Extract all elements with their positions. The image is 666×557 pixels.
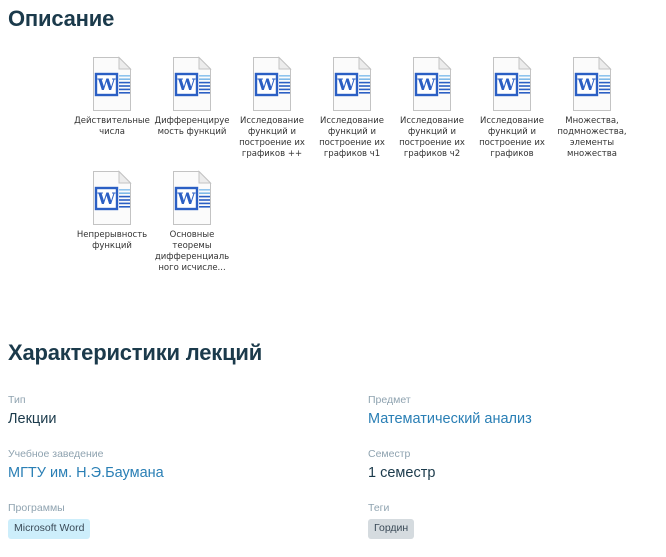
attachment-item[interactable]: W Исследование функций и построение их г… <box>312 56 392 160</box>
svg-text:W: W <box>577 75 597 94</box>
page-title: Описание <box>8 6 114 32</box>
word-document-icon: W <box>90 170 134 226</box>
attachment-item[interactable]: W Дифференцируемость функций <box>152 56 232 138</box>
word-document-icon: W <box>170 170 214 226</box>
attachment-label: Непрерывность функций <box>74 230 150 252</box>
tag-badge[interactable]: Гордин <box>368 519 414 539</box>
word-document-icon: W <box>490 56 534 112</box>
spec-label: Программы <box>8 501 368 515</box>
attachment-item[interactable]: W Основные теоремы дифференциального исч… <box>152 170 232 274</box>
attachment-label: Исследование функций и построение их гра… <box>474 116 550 160</box>
attachment-label: Действительные числа <box>74 116 150 138</box>
word-document-icon: W <box>330 56 374 112</box>
svg-text:W: W <box>417 75 437 94</box>
svg-text:W: W <box>337 75 357 94</box>
attachment-item[interactable]: W Множества, подмножества, элементы множ… <box>552 56 632 160</box>
spec-value: 1 семестр <box>368 464 658 483</box>
specs-table: ТипЛекцииПредметМатематический анализУче… <box>8 393 658 557</box>
spec-cell: ТегиГордин <box>368 501 658 539</box>
attachment-item[interactable]: W Непрерывность функций <box>72 170 152 252</box>
word-document-icon: W <box>170 56 214 112</box>
svg-text:W: W <box>177 189 197 208</box>
spec-label: Тип <box>8 393 368 407</box>
word-document-icon: W <box>570 56 614 112</box>
spec-value-link[interactable]: Математический анализ <box>368 411 532 427</box>
attachment-label: Дифференцируемость функций <box>154 116 230 138</box>
spec-label: Учебное заведение <box>8 447 368 461</box>
spec-label: Теги <box>368 501 658 515</box>
word-document-icon: W <box>410 56 454 112</box>
spec-cell: Учебное заведениеМГТУ им. Н.Э.Баумана <box>8 447 368 483</box>
spec-value: Лекции <box>8 410 368 429</box>
spec-cell: Семестр1 семестр <box>368 447 658 483</box>
spec-cell: ПрограммыMicrosoft Word <box>8 501 368 539</box>
word-document-icon: W <box>90 56 134 112</box>
word-document-icon: W <box>250 56 294 112</box>
svg-text:W: W <box>177 75 197 94</box>
spec-cell: ТипЛекции <box>8 393 368 429</box>
attachments-grid: W Действительные числа W Дифференцируемо… <box>72 56 666 284</box>
spec-cell: ПредметМатематический анализ <box>368 393 658 429</box>
attachment-label: Исследование функций и построение их гра… <box>234 116 310 160</box>
attachment-item[interactable]: W Исследование функций и построение их г… <box>392 56 472 160</box>
svg-text:W: W <box>97 75 117 94</box>
attachment-label: Исследование функций и построение их гра… <box>394 116 470 160</box>
attachment-item[interactable]: W Исследование функций и построение их г… <box>232 56 312 160</box>
spec-label: Семестр <box>368 447 658 461</box>
attachment-item[interactable]: W Исследование функций и построение их г… <box>472 56 552 160</box>
specs-heading: Характеристики лекций <box>8 340 262 366</box>
svg-text:W: W <box>497 75 517 94</box>
attachment-label: Исследование функций и построение их гра… <box>314 116 390 160</box>
svg-text:W: W <box>97 189 117 208</box>
attachment-item[interactable]: W Действительные числа <box>72 56 152 138</box>
spec-value-link[interactable]: МГТУ им. Н.Э.Баумана <box>8 465 164 481</box>
spec-label: Предмет <box>368 393 658 407</box>
attachment-label: Множества, подмножества, элементы множес… <box>554 116 630 160</box>
program-badge[interactable]: Microsoft Word <box>8 519 90 539</box>
attachment-label: Основные теоремы дифференциального исчис… <box>154 230 230 274</box>
svg-text:W: W <box>257 75 277 94</box>
